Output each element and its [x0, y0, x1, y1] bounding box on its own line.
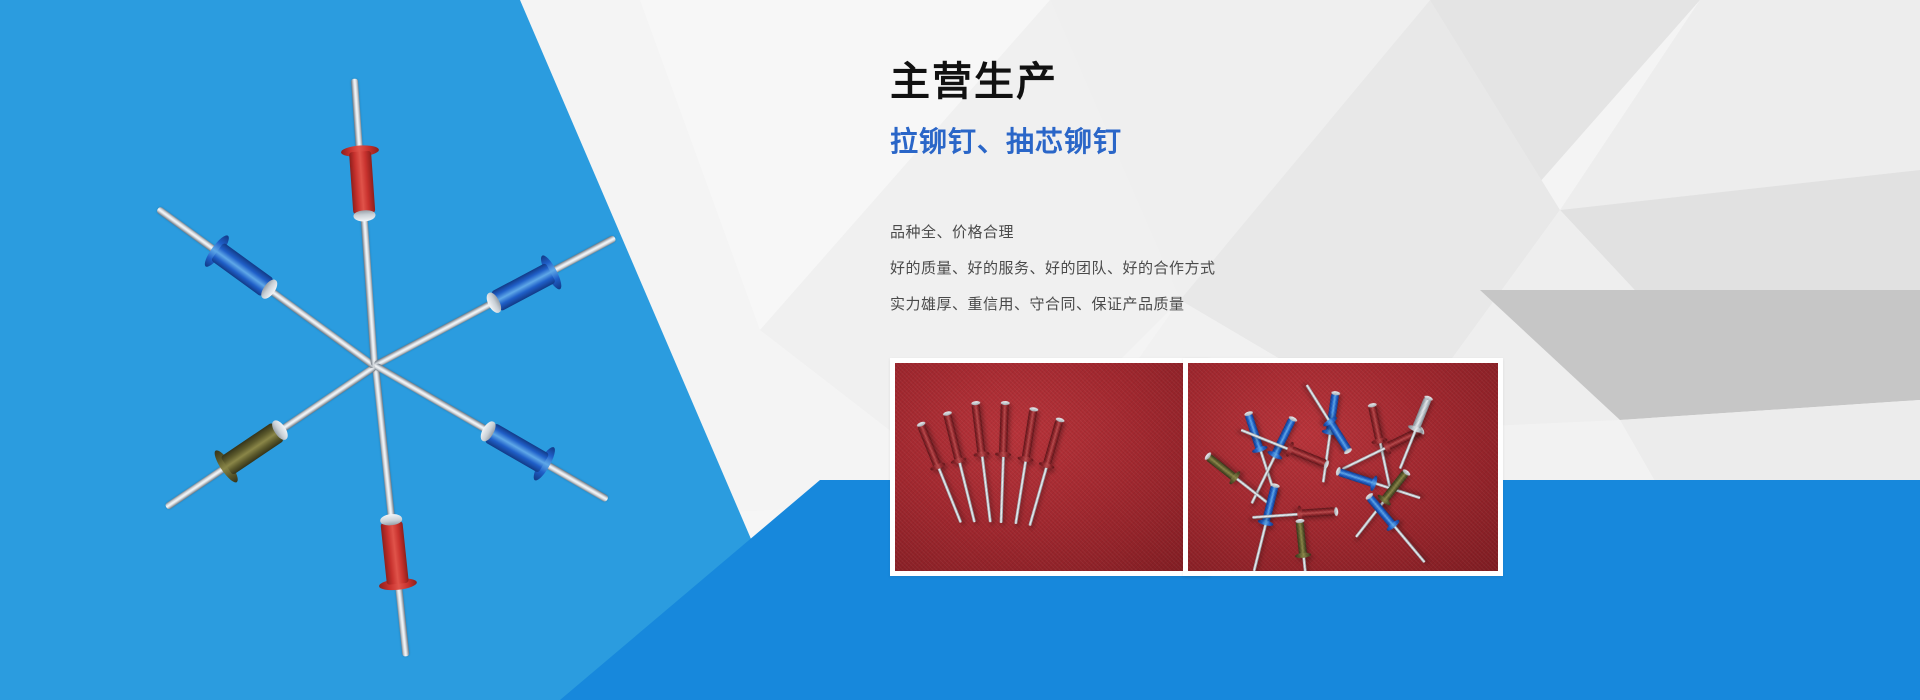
- content-column: 主营生产 拉铆钉、抽芯铆钉 品种全、价格合理 好的质量、好的服务、好的团队、好的…: [890, 0, 1650, 700]
- rivet-mandrel: [980, 452, 992, 523]
- rivet-tip: [353, 210, 376, 223]
- rivet-mandrel: [372, 366, 409, 657]
- rivet-mandrel: [1028, 463, 1049, 526]
- rivet-mandrel: [1390, 522, 1425, 563]
- rivet-mandrel: [1252, 520, 1268, 571]
- rivet-body: [943, 414, 962, 462]
- rivet-flange: [995, 452, 1011, 458]
- hero-banner: 主营生产 拉铆钉、抽芯铆钉 品种全、价格合理 好的质量、好的服务、好的团队、好的…: [0, 0, 1920, 700]
- rivet-body: [349, 151, 375, 214]
- photo-rivet-12: [1294, 519, 1313, 571]
- rivet-mandrel: [351, 78, 378, 366]
- product-photo-image-1: [895, 363, 1205, 571]
- rivet-body: [1368, 405, 1383, 442]
- product-photo-mixed-rivets[interactable]: [1183, 358, 1503, 576]
- rivet-star-photo: [0, 0, 820, 700]
- rivet-flange: [1017, 455, 1034, 462]
- rivet-body: [917, 424, 941, 469]
- rivet-body: [1043, 420, 1064, 467]
- rivet-mandrel: [1252, 512, 1302, 518]
- product-photo-red-rivets[interactable]: [890, 358, 1210, 576]
- rivet-head: [1334, 507, 1339, 516]
- feature-line-2: 好的质量、好的服务、好的团队、好的合作方式: [890, 261, 1216, 276]
- photo-rivet-3: [996, 401, 1010, 523]
- rivet-body: [971, 404, 985, 456]
- rivet-body: [380, 521, 408, 585]
- feature-line-3: 实力雄厚、重信用、守合同、保证产品质量: [890, 297, 1185, 312]
- rivet-body: [1296, 522, 1308, 557]
- rivet-body: [1022, 410, 1038, 460]
- rivet-mandrel: [1398, 426, 1418, 469]
- rivet-body: [999, 404, 1009, 455]
- page-subtitle: 拉铆钉、抽芯铆钉: [890, 128, 1122, 156]
- rivet-head: [1000, 401, 1009, 405]
- rivet-body: [1288, 445, 1328, 467]
- product-photo-image-2: [1188, 363, 1498, 571]
- rivet-mandrel: [1321, 429, 1331, 482]
- photo-rivet-14: [1395, 394, 1433, 470]
- rivet-mandrel: [1014, 456, 1028, 524]
- rivet-body: [1299, 507, 1336, 517]
- feature-line-1: 品种全、价格合理: [890, 225, 1014, 240]
- page-title: 主营生产: [890, 62, 1058, 102]
- rivet-mandrel: [999, 452, 1004, 523]
